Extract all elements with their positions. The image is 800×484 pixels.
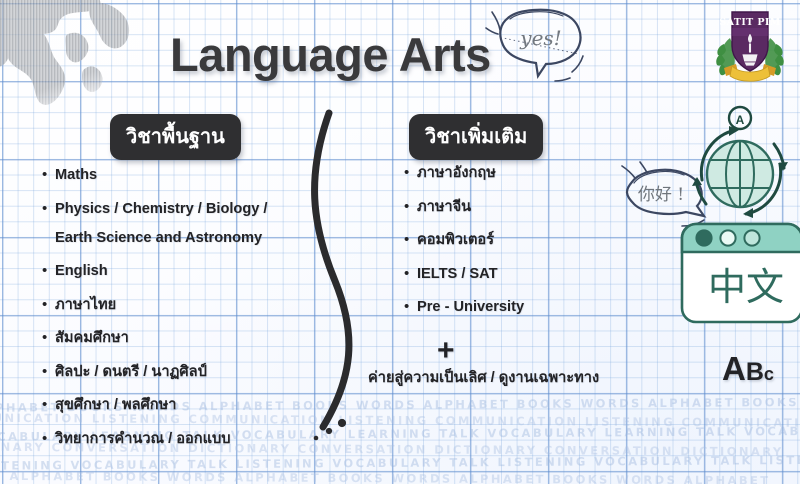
- list-item-label: ภาษาไทย: [55, 295, 116, 316]
- list-item-label: Pre - University: [417, 297, 524, 318]
- satit-pim-logo: SATIT PIM: [714, 4, 786, 84]
- list-item: • ศิลปะ / ดนตรี / นาฏศิลป์: [42, 362, 307, 383]
- bullet-glyph: •: [42, 362, 55, 382]
- watermark-line: WORDS ALPHABET BOOKS WORDS ALPHABET BOOK…: [0, 469, 742, 484]
- list-item: • วิทยาการคำนวณ / ออกแบบ: [42, 429, 307, 450]
- list-item: • สุขศึกษา / พลศึกษา: [42, 395, 307, 416]
- bullet-glyph: •: [404, 230, 417, 250]
- list-item-label: สัมคมศึกษา: [55, 328, 129, 349]
- bullet-glyph: •: [42, 429, 55, 449]
- list-item-label: English: [55, 261, 108, 282]
- basic-subjects-list: • Maths • Physics / Chemistry / Biology …: [42, 165, 307, 462]
- list-item: • Maths: [42, 165, 307, 186]
- bullet-glyph: •: [404, 264, 417, 284]
- bullet-glyph: •: [42, 165, 55, 185]
- abc-letter-a: A: [722, 350, 746, 387]
- bullet-glyph: •: [42, 261, 55, 281]
- nihao-bubble-text: 你好 !: [638, 185, 684, 205]
- list-item: • ภาษาไทย: [42, 295, 307, 316]
- bullet-glyph: •: [42, 395, 55, 415]
- list-item-label: ภาษาจีน: [417, 197, 471, 218]
- bullet-glyph: •: [404, 163, 417, 183]
- list-item-label: ภาษาอังกฤษ: [417, 163, 496, 184]
- list-item: • Physics / Chemistry / Biology / Earth …: [42, 199, 307, 249]
- page-title: Language Arts: [170, 27, 491, 82]
- badge-basic-subjects: วิชาพื้นฐาน: [110, 114, 241, 160]
- yes-speech-bubble-icon: yes!: [484, 2, 594, 88]
- list-item-label: ศิลปะ / ดนตรี / นาฏศิลป์: [55, 362, 207, 383]
- world-map-icon: [0, 0, 144, 125]
- list-item: • Pre - University: [404, 297, 654, 318]
- list-item-line1: Physics / Chemistry / Biology /: [55, 201, 268, 217]
- camp-note-label: ค่ายสู่ความเป็นเลิศ / ดูงานเฉพาะทาง: [368, 366, 599, 389]
- curve-trailing-dots: [305, 418, 355, 444]
- list-item-label: Maths: [55, 165, 97, 186]
- yes-bubble-text: yes!: [519, 26, 561, 50]
- list-item-label: คอมพิวเตอร์: [417, 230, 494, 251]
- list-item-label: IELTS / SAT: [417, 264, 498, 285]
- list-item: • สัมคมศึกษา: [42, 328, 307, 349]
- list-item-label: Physics / Chemistry / Biology / Earth Sc…: [55, 199, 268, 249]
- logo-crest-text: SATIT PIM: [719, 17, 780, 28]
- list-item-label: วิทยาการคำนวณ / ออกแบบ: [55, 429, 231, 450]
- globe-translate-icon: A: [684, 104, 796, 226]
- bullet-glyph: •: [42, 328, 55, 348]
- abc-letter-c: c: [764, 364, 774, 384]
- list-item: • IELTS / SAT: [404, 264, 654, 285]
- bullet-glyph: •: [42, 199, 55, 219]
- list-item: • English: [42, 261, 307, 282]
- list-item-line2: Earth Science and Astronomy: [55, 228, 268, 249]
- globe-letter-a: A: [736, 113, 745, 127]
- abc-letter-b: B: [746, 358, 764, 386]
- browser-window-chinese-icon: 中文: [676, 218, 800, 330]
- slide-canvas: ALPHABET BOOKS WORDS ALPHABET BOOKS WORD…: [0, 0, 800, 484]
- bullet-glyph: •: [404, 197, 417, 217]
- badge-extra-subjects: วิชาเพิ่มเติม: [409, 114, 543, 160]
- abc-letters: ABc: [722, 352, 774, 385]
- browser-chinese-text: 中文: [708, 265, 784, 309]
- bullet-glyph: •: [404, 297, 417, 317]
- list-item-label: สุขศึกษา / พลศึกษา: [55, 395, 176, 416]
- bullet-glyph: •: [42, 295, 55, 315]
- plus-symbol: +: [437, 336, 455, 366]
